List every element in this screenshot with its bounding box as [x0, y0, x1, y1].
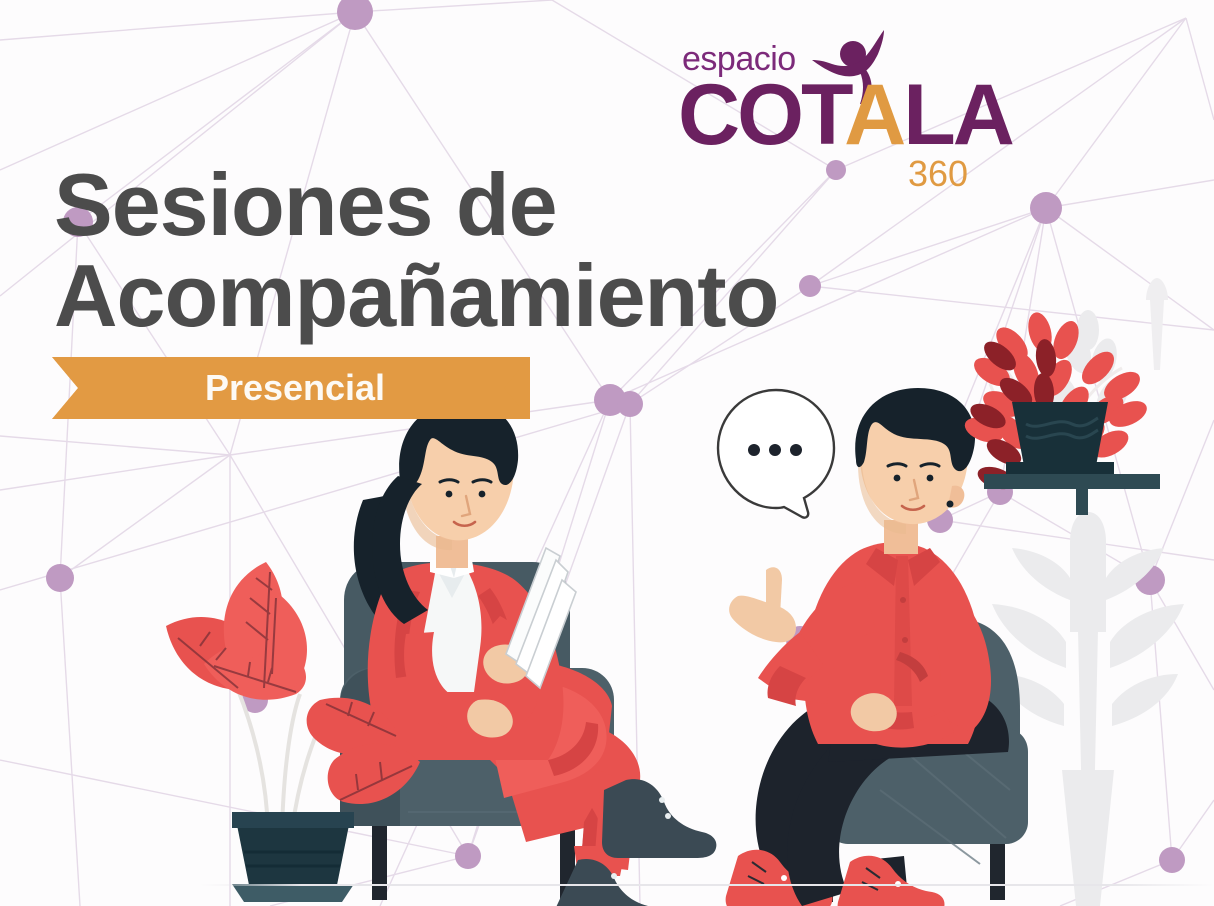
modality-ribbon: Presencial [52, 357, 530, 419]
bubble-dot-3 [790, 444, 802, 456]
shoe-right-woman [602, 779, 716, 858]
page-title-line1: Sesiones de [54, 155, 557, 254]
figure-seated-woman [354, 402, 717, 906]
logo-word-part1: COT [678, 67, 844, 163]
poster-canvas: espacio COTALA 360 Sesiones de Acompañam… [0, 0, 1214, 906]
logo-wordmark: COTALA [678, 72, 1012, 158]
ribbon-label: Presencial [52, 357, 530, 419]
page-title-line2: Acompañamiento [54, 250, 994, 342]
bubble-dot-2 [769, 444, 781, 456]
floor-line [200, 884, 1214, 886]
counselling-scene-illustration [0, 0, 1214, 906]
page-title: Sesiones de Acompañamiento [54, 159, 994, 342]
logo-word-part3: LA [903, 67, 1012, 163]
cotala-logo[interactable]: espacio COTALA 360 [660, 28, 1000, 178]
background-vase-plant-2 [1146, 278, 1168, 370]
logo-word-part2: A [844, 67, 903, 163]
background-vase-plant [992, 512, 1184, 906]
hand-open [729, 567, 796, 642]
speech-bubble-icon [718, 390, 834, 518]
bubble-dot-1 [748, 444, 760, 456]
